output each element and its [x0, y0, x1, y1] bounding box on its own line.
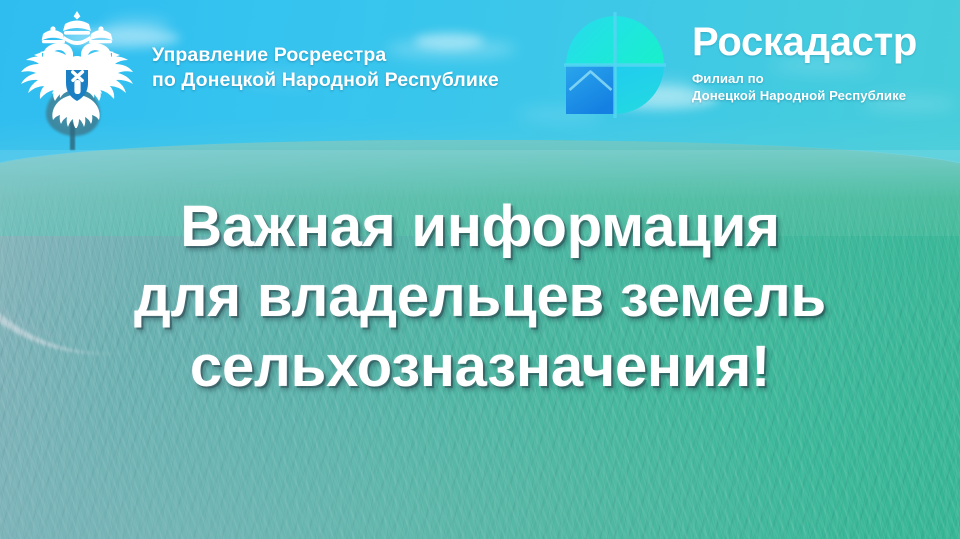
- roskadastr-circle-house-logo-icon: [556, 6, 674, 126]
- rosreestr-title-line2: по Донецкой Народной Республике: [152, 68, 499, 93]
- roskadastr-text-block: Роскадастр Филиал по Донецкой Народной Р…: [692, 6, 917, 104]
- roskadastr-wordmark: Роскадастр: [692, 20, 917, 64]
- headline-line2: для владельцев земель: [0, 262, 960, 332]
- rosreestr-branding: Управление Росреестра по Донецкой Народн…: [16, 8, 499, 128]
- russian-double-headed-eagle-emblem-icon: [16, 8, 138, 128]
- roskadastr-subtitle: Филиал по Донецкой Народной Республике: [692, 70, 917, 104]
- informational-banner: Управление Росреестра по Донецкой Народн…: [0, 0, 960, 539]
- roskadastr-subtitle-line2: Донецкой Народной Республике: [692, 87, 917, 104]
- headline: Важная информация для владельцев земель …: [0, 192, 960, 402]
- headline-line1: Важная информация: [0, 192, 960, 262]
- roskadastr-subtitle-line1: Филиал по: [692, 70, 917, 87]
- roskadastr-branding: Роскадастр Филиал по Донецкой Народной Р…: [556, 6, 917, 126]
- headline-line3: сельхозназначения!: [0, 332, 960, 402]
- rosreestr-title-line1: Управление Росреестра: [152, 43, 499, 68]
- rosreestr-title: Управление Росреестра по Донецкой Народн…: [152, 43, 499, 93]
